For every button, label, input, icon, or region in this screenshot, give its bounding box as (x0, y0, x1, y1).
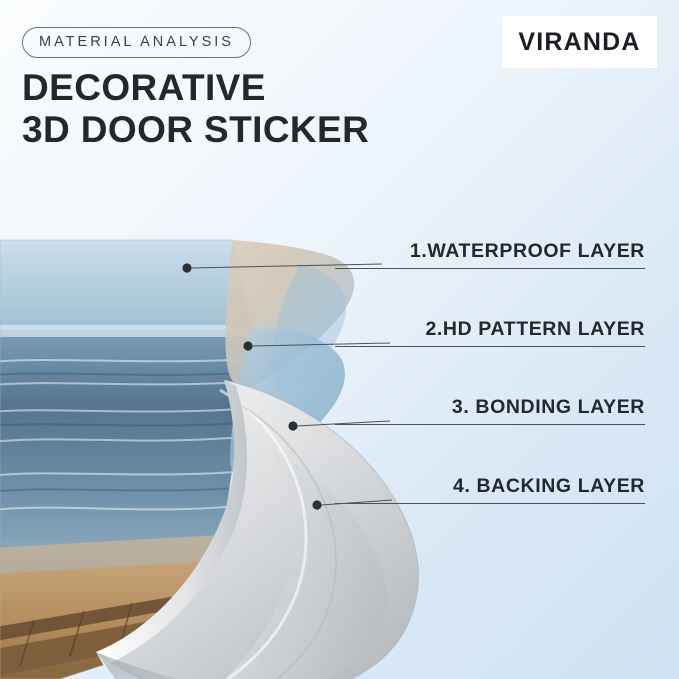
poster-canvas: MATERIAL ANALYSIS DECORATIVE 3D DOOR STI… (0, 0, 679, 679)
callout-rule-1 (335, 268, 645, 269)
callout-rule-2 (335, 346, 645, 347)
callout-rule-4 (335, 503, 645, 504)
callout-label-3: 3. BONDING LAYER (335, 396, 645, 424)
callout-label-2: 2.HD PATTERN LAYER (335, 318, 645, 346)
callout-list: 1.WATERPROOF LAYER 2.HD PATTERN LAYER 3.… (0, 0, 679, 679)
callout-item-4: 4. BACKING LAYER (335, 475, 645, 504)
callout-label-4: 4. BACKING LAYER (335, 475, 645, 503)
callout-item-2: 2.HD PATTERN LAYER (335, 318, 645, 347)
callout-rule-3 (335, 424, 645, 425)
callout-label-1: 1.WATERPROOF LAYER (335, 240, 645, 268)
callout-item-3: 3. BONDING LAYER (335, 396, 645, 425)
callout-item-1: 1.WATERPROOF LAYER (335, 240, 645, 269)
